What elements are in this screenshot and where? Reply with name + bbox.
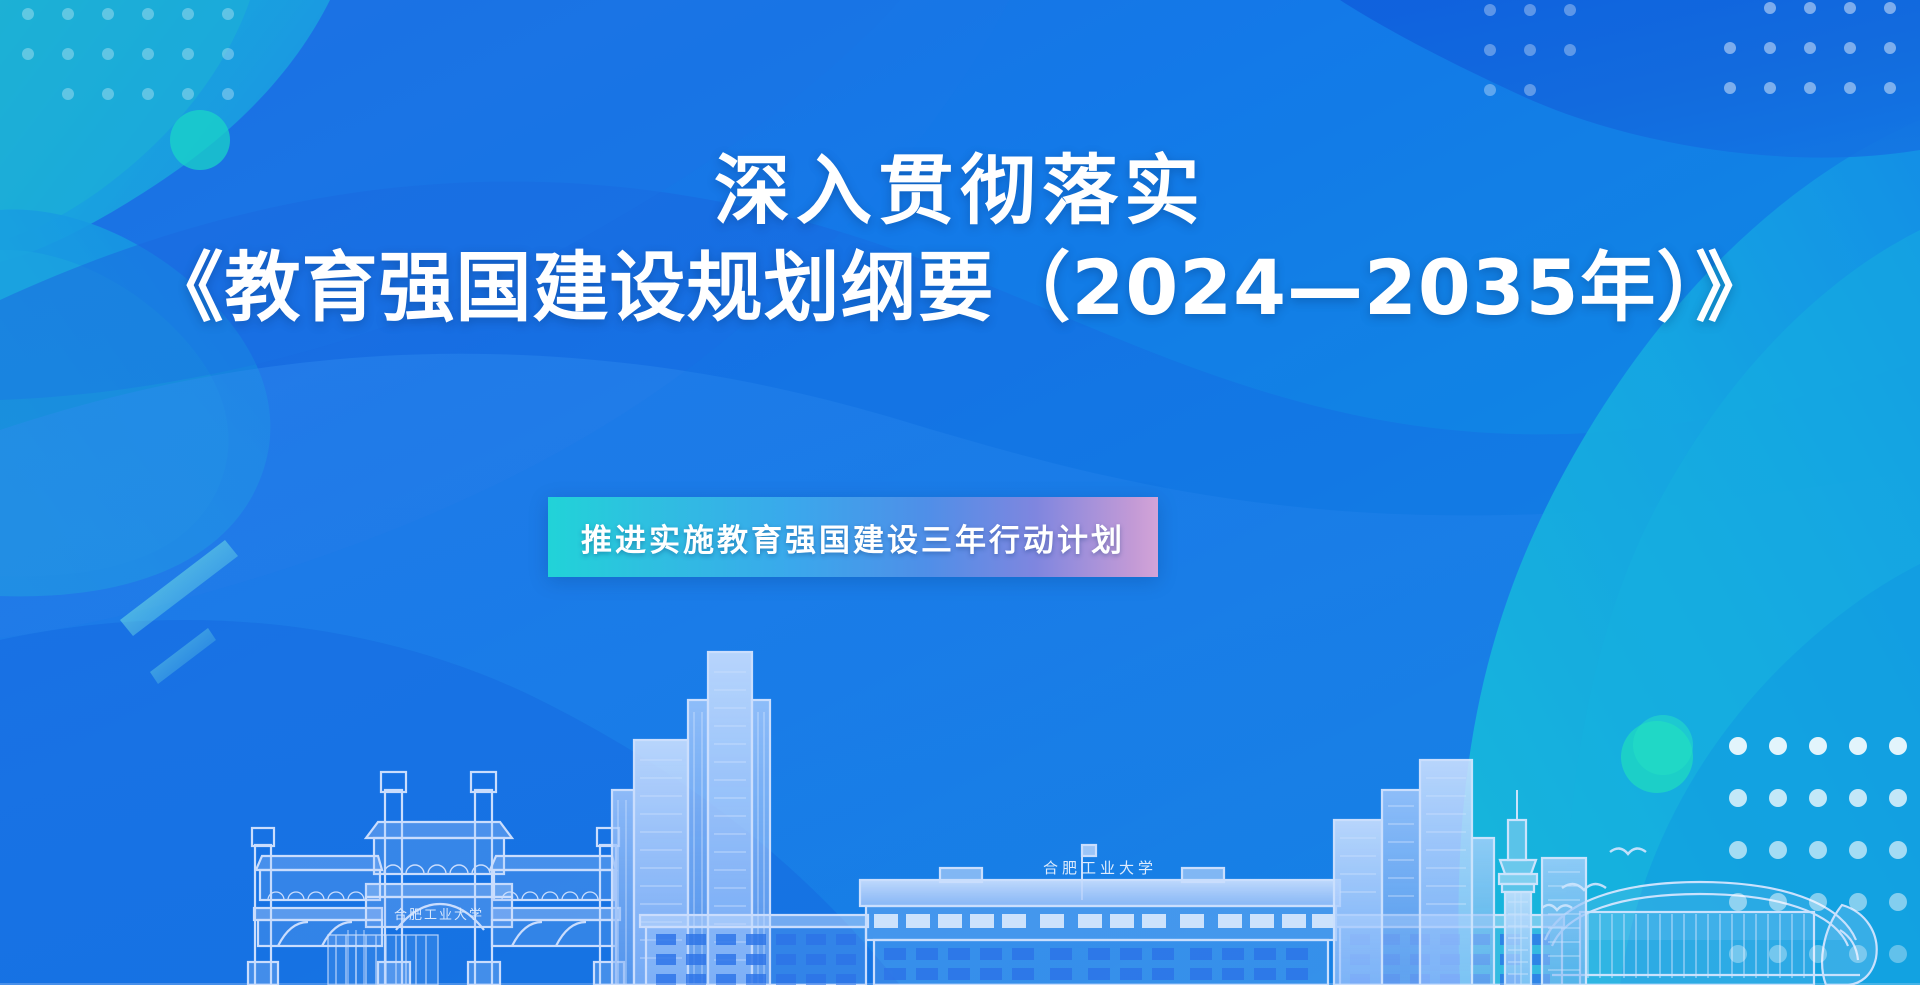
dot-grid-top-right <box>1484 4 1576 96</box>
dot-grid-upper-right <box>1724 2 1896 94</box>
dot-grid-bottom-right <box>1729 737 1907 963</box>
banner-poster: 合肥工业大学 <box>0 0 1920 985</box>
subtitle-ribbon: 推进实施教育强国建设三年行动计划 <box>548 497 1158 577</box>
dot-grid-decorations <box>0 0 1920 985</box>
subtitle-ribbon-text: 推进实施教育强国建设三年行动计划 <box>581 515 1125 560</box>
dot-grid-top-left <box>22 8 234 100</box>
